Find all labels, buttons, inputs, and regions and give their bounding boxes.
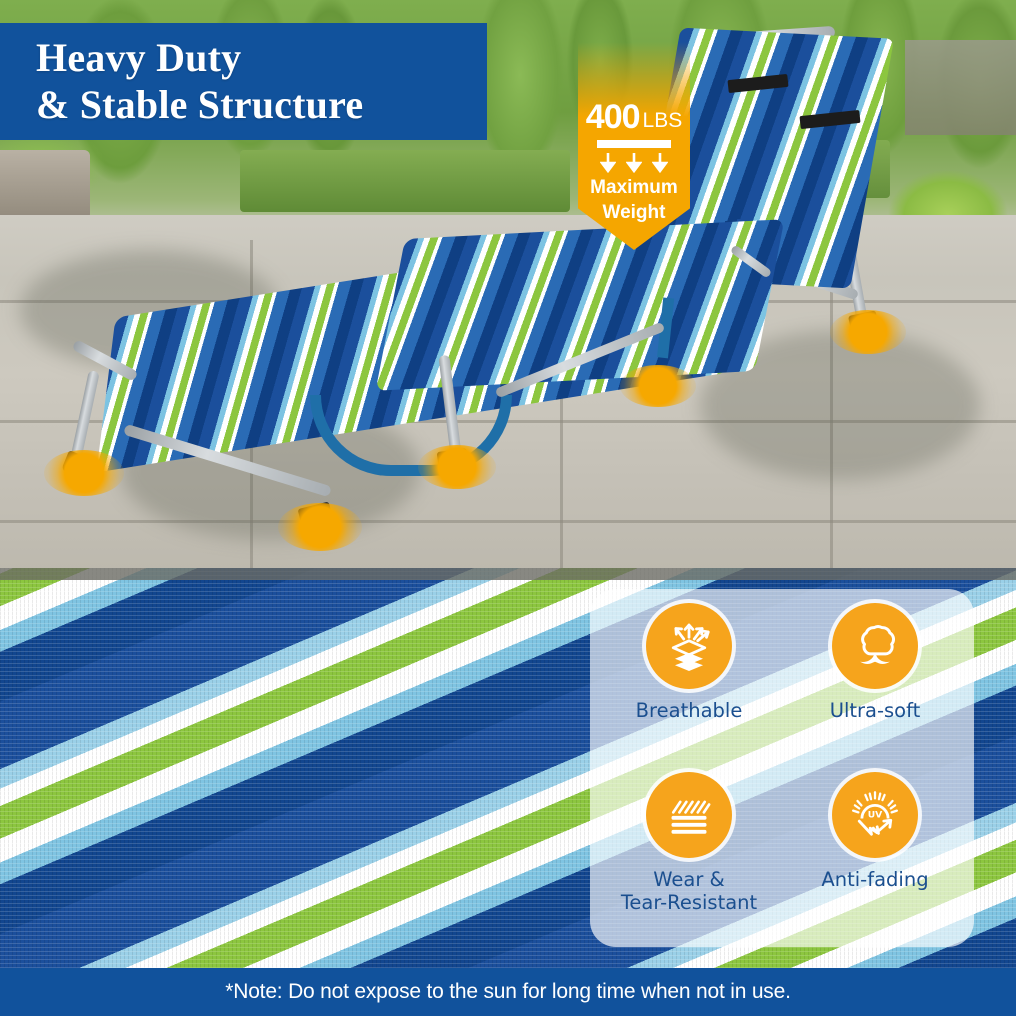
weight-unit: LBS bbox=[643, 109, 683, 132]
down-arrows-group bbox=[595, 153, 673, 173]
note-text: *Note: Do not expose to the sun for long… bbox=[225, 980, 790, 1004]
weight-value-row: 400LBS bbox=[578, 42, 690, 134]
foot-contact-glow bbox=[278, 503, 362, 551]
feature-label: Wear & Tear-Resistant bbox=[621, 869, 757, 914]
headline-banner: Heavy Duty & Stable Structure bbox=[0, 23, 487, 140]
feature-anti-fading[interactable]: UV Anti-fading bbox=[782, 772, 968, 941]
weight-caption-line-2: Weight bbox=[578, 202, 690, 223]
carry-strap bbox=[657, 297, 714, 362]
feature-label: Anti-fading bbox=[821, 869, 928, 892]
max-weight-badge: 400LBS Maximum Weight bbox=[578, 42, 690, 250]
headline-line-2: & Stable Structure bbox=[36, 82, 487, 128]
feature-label: Breathable bbox=[636, 700, 743, 723]
background-deck-strip bbox=[0, 568, 1016, 580]
weight-caption-line-1: Maximum bbox=[578, 177, 690, 198]
feature-label-line-1: Wear & bbox=[653, 868, 725, 891]
arrow-down-icon bbox=[626, 153, 642, 173]
weight-value: 400 bbox=[586, 98, 640, 136]
note-bar: *Note: Do not expose to the sun for long… bbox=[0, 968, 1016, 1016]
weight-divider-bar bbox=[597, 140, 671, 148]
arrow-down-icon bbox=[600, 153, 616, 173]
feature-highlights-panel: Breathable Ultra-soft bbox=[590, 589, 974, 947]
feature-wear-tear-resistant[interactable]: Wear & Tear-Resistant bbox=[596, 772, 782, 941]
lounger-photo-scene: Heavy Duty & Stable Structure 400LBS Max… bbox=[0, 0, 1016, 568]
product-infographic: Heavy Duty & Stable Structure 400LBS Max… bbox=[0, 0, 1016, 1016]
hatched-layers-icon bbox=[646, 772, 732, 858]
foot-contact-glow bbox=[830, 310, 906, 354]
uv-sun-icon: UV bbox=[832, 772, 918, 858]
foot-contact-glow bbox=[620, 365, 696, 407]
arrow-down-icon bbox=[652, 153, 668, 173]
svg-text:UV: UV bbox=[868, 810, 883, 821]
headline-line-1: Heavy Duty bbox=[36, 35, 487, 81]
layers-arrows-icon bbox=[646, 603, 732, 689]
foot-contact-glow bbox=[44, 450, 124, 496]
feature-label: Ultra-soft bbox=[830, 700, 921, 723]
feature-ultra-soft[interactable]: Ultra-soft bbox=[782, 603, 968, 772]
feature-breathable[interactable]: Breathable bbox=[596, 603, 782, 772]
feature-label-line-2: Tear-Resistant bbox=[621, 891, 757, 914]
foot-contact-glow bbox=[418, 445, 496, 489]
cotton-boll-icon bbox=[832, 603, 918, 689]
